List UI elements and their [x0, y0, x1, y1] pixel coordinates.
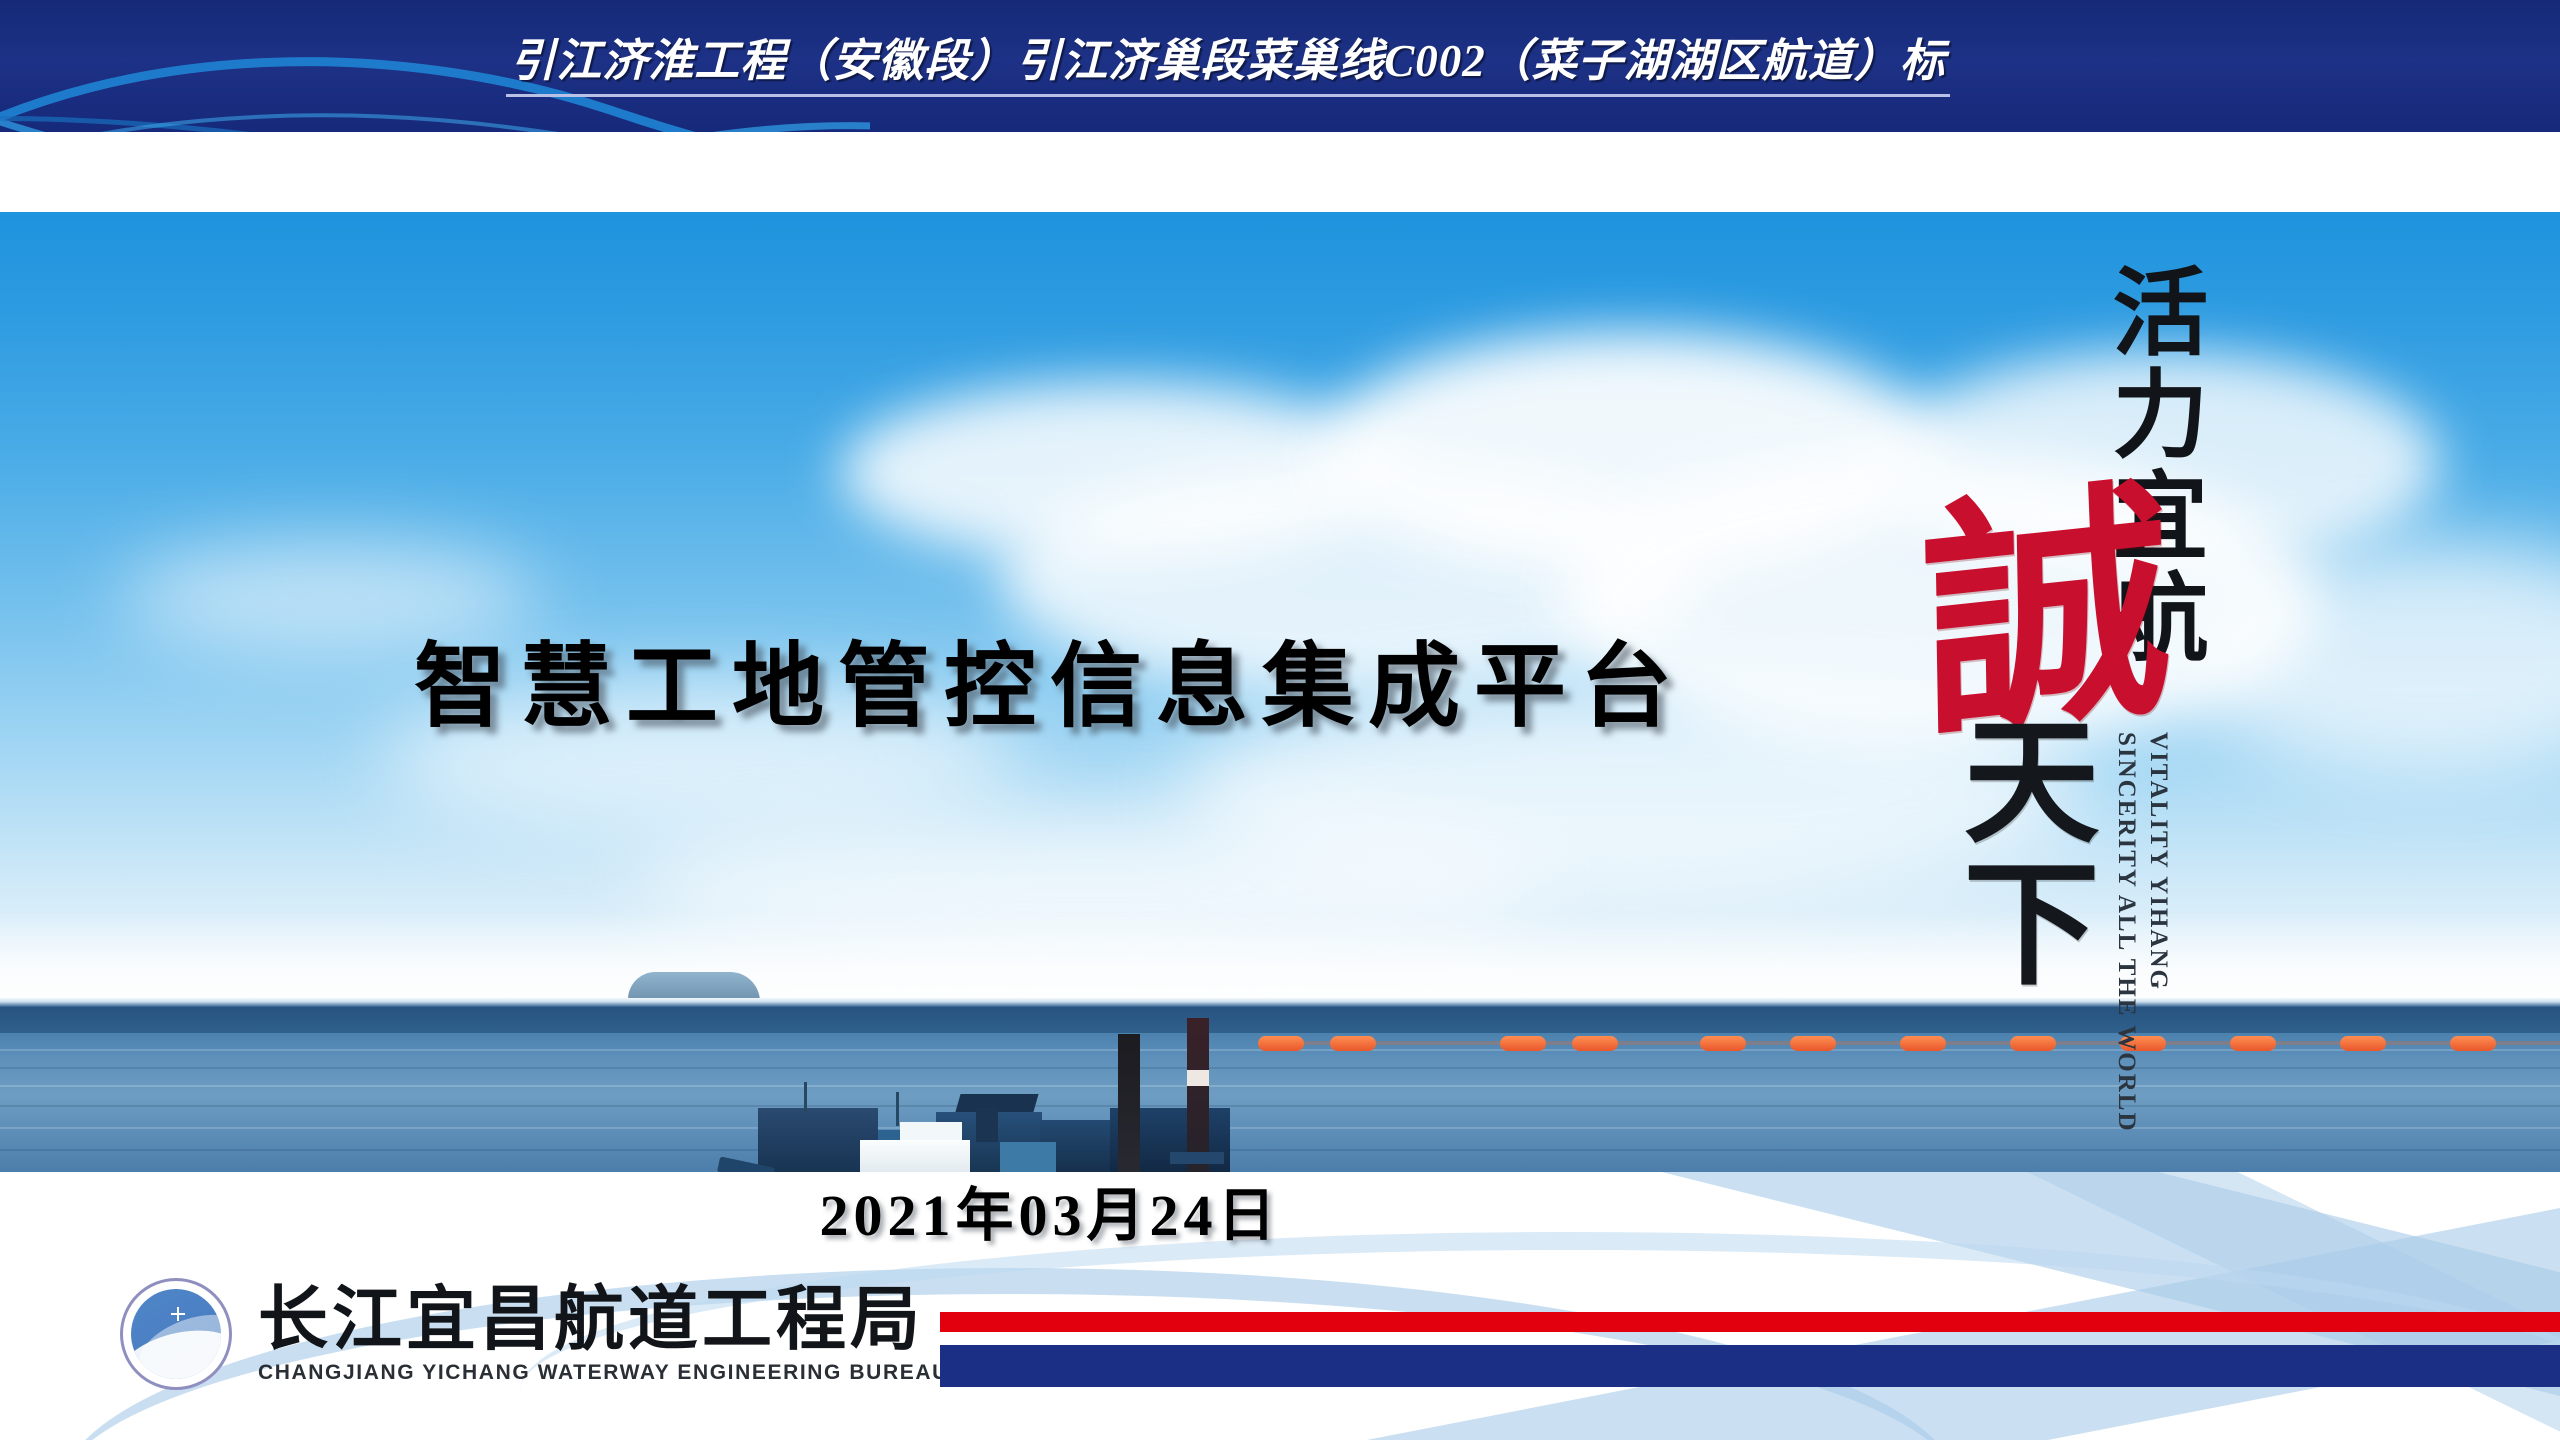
pipeline-pontoon: [1572, 1036, 1618, 1051]
company-name-en: CHANGJIANG YICHANG WATERWAY ENGINEERING …: [258, 1361, 949, 1385]
pipeline-pontoon: [2450, 1036, 2496, 1051]
project-title: 引江济淮工程（安徽段）引江济巢段菜巢线C002（菜子湖湖区航道）标: [506, 24, 1950, 97]
dredger-vessel: [700, 1012, 1320, 1172]
pipeline-pontoon: [1258, 1036, 1304, 1051]
company-logo: 长江宜昌航道工程局 CHANGJIANG YICHANG WATERWAY EN…: [120, 1268, 1000, 1400]
pipeline-pontoon: [1790, 1036, 1836, 1051]
waterway-emblem-icon: [120, 1278, 232, 1390]
pipeline-pontoon: [2340, 1036, 2386, 1051]
header-white-gap: [0, 132, 2560, 212]
pipeline-pontoon: [1330, 1036, 1376, 1051]
world-characters: 天下: [1950, 710, 2086, 994]
header-title-container: 引江济淮工程（安徽段）引江济巢段菜巢线C002（菜子湖湖区航道）标: [0, 0, 2560, 132]
navy-accent-bar: [940, 1345, 2560, 1387]
pipeline-pontoon: [1700, 1036, 1746, 1051]
red-accent-bar: [940, 1312, 2560, 1332]
english-slogan-sincerity: SINCERITY ALL THE WORLD: [2112, 732, 2140, 1133]
presentation-date: 2021年03月24日: [0, 1168, 2100, 1252]
english-slogan-vitality: VITALITY YIHANG: [2144, 732, 2172, 991]
pipeline-pontoon: [1500, 1036, 1546, 1051]
header-band: 引江济淮工程（安徽段）引江济巢段菜巢线C002（菜子湖湖区航道）标: [0, 0, 2560, 132]
company-name-cn: 长江宜昌航道工程局: [258, 1284, 949, 1354]
page-title: 智慧工地管控信息集成平台: [0, 612, 2100, 745]
presentation-slide: 活力宜航 誠 天下 VITALITY YIHANG SINCERITY ALL …: [0, 0, 2560, 1440]
